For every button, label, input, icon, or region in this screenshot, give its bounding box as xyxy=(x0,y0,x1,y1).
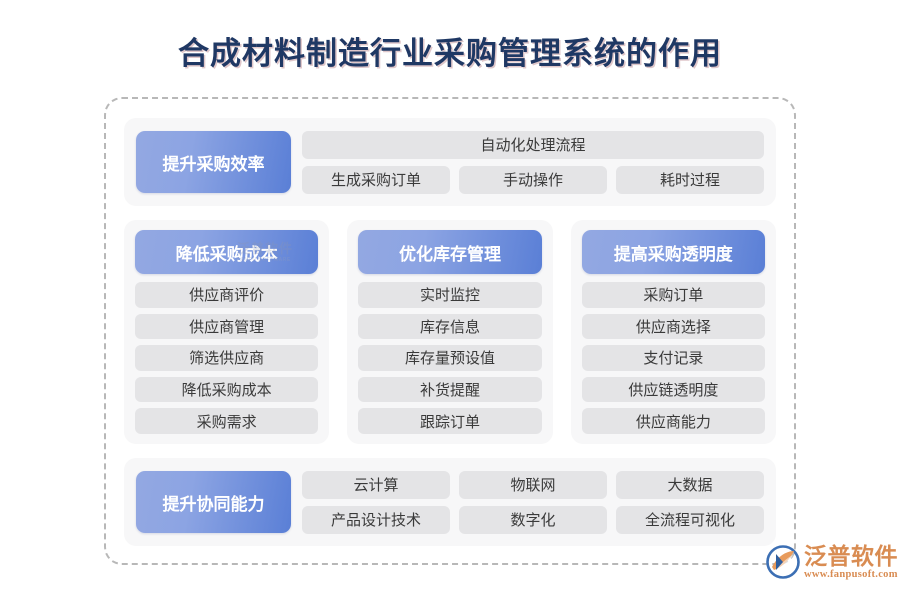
item-pill[interactable]: 耗时过程 xyxy=(616,166,764,194)
item-pill[interactable]: 物联网 xyxy=(459,471,607,499)
section-top-band: 提升采购效率 自动化处理流程 生成采购订单 手动操作 耗时过程 xyxy=(124,118,776,206)
item-pill[interactable]: 采购订单 xyxy=(582,282,765,308)
item-pill[interactable]: 供应商评价 xyxy=(135,282,318,308)
column-card-optimize-inventory: 优化库存管理 实时监控 库存信息 库存量预设值 补货提醒 跟踪订单 xyxy=(347,220,552,444)
section-bottom-band: 提升协同能力 云计算 物联网 大数据 产品设计技术 数字化 全流程可视化 xyxy=(124,458,776,546)
top-band-rows: 自动化处理流程 生成采购订单 手动操作 耗时过程 xyxy=(302,131,764,194)
item-pill[interactable]: 供应商管理 xyxy=(135,314,318,340)
item-pill[interactable]: 筛选供应商 xyxy=(135,345,318,371)
item-pill[interactable]: 补货提醒 xyxy=(358,377,541,403)
column-header-reduce-cost[interactable]: 降低采购成本 xyxy=(135,230,318,274)
item-pill[interactable]: 支付记录 xyxy=(582,345,765,371)
brand-name: 泛普软件 xyxy=(804,544,898,568)
brand-logo: 泛普软件 www.fanpusoft.com xyxy=(766,540,898,584)
columns-section: 降低采购成本 供应商评价 供应商管理 筛选供应商 降低采购成本 采购需求 优化库… xyxy=(124,220,776,444)
section-header-improve-collaboration[interactable]: 提升协同能力 xyxy=(136,471,291,533)
item-pill[interactable]: 采购需求 xyxy=(135,408,318,434)
top-band-row-2: 生成采购订单 手动操作 耗时过程 xyxy=(302,166,764,194)
section-header-improve-efficiency[interactable]: 提升采购效率 xyxy=(136,131,291,193)
item-pill[interactable]: 库存信息 xyxy=(358,314,541,340)
fanpu-logo-icon xyxy=(766,545,800,579)
item-pill[interactable]: 全流程可视化 xyxy=(616,506,764,534)
column-items-reduce-cost: 供应商评价 供应商管理 筛选供应商 降低采购成本 采购需求 xyxy=(135,282,318,434)
item-pill[interactable]: 生成采购订单 xyxy=(302,166,450,194)
page-title: 合成材料制造行业采购管理系统的作用 xyxy=(0,0,900,78)
bottom-band-rows: 云计算 物联网 大数据 产品设计技术 数字化 全流程可视化 xyxy=(302,471,764,534)
item-pill[interactable]: 库存量预设值 xyxy=(358,345,541,371)
item-pill[interactable]: 数字化 xyxy=(459,506,607,534)
bottom-band-row-1: 云计算 物联网 大数据 xyxy=(302,471,764,499)
item-pill[interactable]: 降低采购成本 xyxy=(135,377,318,403)
item-pill[interactable]: 供应商能力 xyxy=(582,408,765,434)
item-pill[interactable]: 云计算 xyxy=(302,471,450,499)
column-items-improve-transparency: 采购订单 供应商选择 支付记录 供应链透明度 供应商能力 xyxy=(582,282,765,434)
item-pill[interactable]: 大数据 xyxy=(616,471,764,499)
brand-url: www.fanpusoft.com xyxy=(804,569,898,580)
item-pill[interactable]: 产品设计技术 xyxy=(302,506,450,534)
bottom-band-row-2: 产品设计技术 数字化 全流程可视化 xyxy=(302,506,764,534)
column-card-reduce-cost: 降低采购成本 供应商评价 供应商管理 筛选供应商 降低采购成本 采购需求 xyxy=(124,220,329,444)
item-pill[interactable]: 手动操作 xyxy=(459,166,607,194)
item-pill[interactable]: 自动化处理流程 xyxy=(302,131,764,159)
item-pill[interactable]: 供应商选择 xyxy=(582,314,765,340)
column-card-improve-transparency: 提高采购透明度 采购订单 供应商选择 支付记录 供应链透明度 供应商能力 xyxy=(571,220,776,444)
content-area: 提升采购效率 自动化处理流程 生成采购订单 手动操作 耗时过程 降低采购成本 供… xyxy=(124,118,776,546)
item-pill[interactable]: 实时监控 xyxy=(358,282,541,308)
item-pill[interactable]: 跟踪订单 xyxy=(358,408,541,434)
brand-text: 泛普软件 www.fanpusoft.com xyxy=(804,544,898,579)
item-pill[interactable]: 供应链透明度 xyxy=(582,377,765,403)
top-band-row-1: 自动化处理流程 xyxy=(302,131,764,159)
column-items-optimize-inventory: 实时监控 库存信息 库存量预设值 补货提醒 跟踪订单 xyxy=(358,282,541,434)
column-header-optimize-inventory[interactable]: 优化库存管理 xyxy=(358,230,541,274)
column-header-improve-transparency[interactable]: 提高采购透明度 xyxy=(582,230,765,274)
